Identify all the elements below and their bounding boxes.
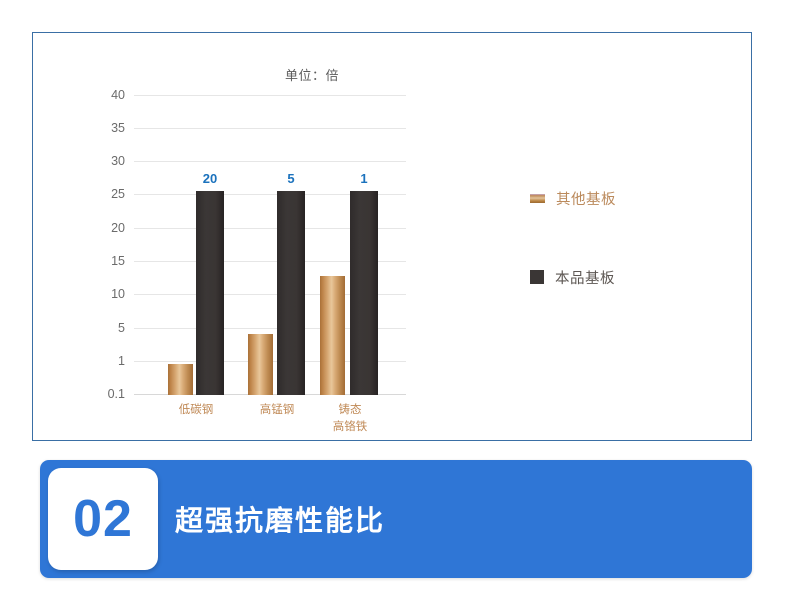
- bar-value-label: 1: [360, 171, 367, 186]
- legend-swatch-icon: [530, 194, 545, 203]
- bar-product-1[interactable]: 20: [196, 191, 224, 395]
- x-axis-label-line: 铸态: [333, 402, 368, 419]
- chart-unit-label: 单位：倍: [285, 65, 339, 84]
- y-tick-label: 15: [111, 254, 125, 268]
- section-number-badge: 02: [48, 468, 158, 570]
- y-tick-label: 10: [111, 287, 125, 301]
- x-axis-label-3: 铸态 高铬铁: [333, 402, 368, 436]
- bar-value-label: 20: [203, 171, 217, 186]
- legend-item-product[interactable]: 本品基板: [530, 262, 710, 292]
- legend-label-other: 其他基板: [556, 188, 616, 209]
- x-axis-label-line: 高锰钢: [260, 402, 295, 419]
- x-axis-label-2: 高锰钢: [260, 402, 295, 419]
- y-tick-label: 35: [111, 121, 125, 135]
- y-tick-label: 30: [111, 154, 125, 168]
- bar-other-2[interactable]: [248, 334, 273, 395]
- y-tick-label: 1: [118, 354, 125, 368]
- bar-chart: 单位：倍 40 35 30 25 20: [33, 33, 503, 413]
- y-tick-label: 20: [111, 221, 125, 235]
- section-banner: 02 超强抗磨性能比: [40, 460, 752, 578]
- y-tick-label: 5: [118, 321, 125, 335]
- plot-area: 40 35 30 25 20 15 10 5 1 0.1 20 低碳钢: [134, 95, 406, 395]
- bar-other-3[interactable]: [320, 276, 345, 395]
- x-axis-label-line: 低碳钢: [179, 402, 214, 419]
- x-axis-label-line: 高铬铁: [333, 419, 368, 436]
- y-tick-label: 25: [111, 187, 125, 201]
- legend-label-product: 本品基板: [555, 267, 615, 288]
- legend-swatch-icon: [530, 270, 544, 284]
- bar-other-1[interactable]: [168, 364, 193, 395]
- legend-item-other[interactable]: 其他基板: [530, 183, 710, 213]
- bar-product-3[interactable]: 1: [350, 191, 378, 395]
- y-tick-label: 40: [111, 88, 125, 102]
- section-title: 超强抗磨性能比: [175, 460, 385, 578]
- y-tick-label: 0.1: [108, 387, 125, 401]
- chart-card: 单位：倍 40 35 30 25 20: [32, 32, 752, 441]
- bar-value-label: 5: [287, 171, 294, 186]
- chart-legend: 其他基板 本品基板: [530, 183, 710, 292]
- slide-root: 单位：倍 40 35 30 25 20: [0, 0, 790, 601]
- bar-product-2[interactable]: 5: [277, 191, 305, 395]
- x-axis-label-1: 低碳钢: [179, 402, 214, 419]
